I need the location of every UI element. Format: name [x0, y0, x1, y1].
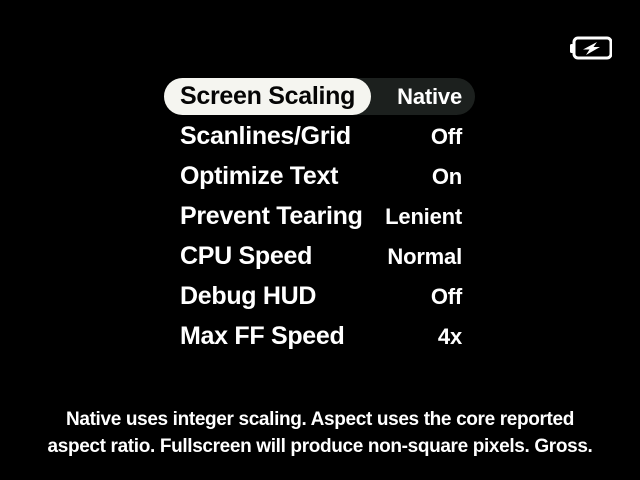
- battery-charging-icon: [570, 36, 612, 60]
- menu-item-value[interactable]: 4x: [300, 318, 462, 355]
- menu-item-value[interactable]: Off: [300, 118, 462, 155]
- menu-item-value[interactable]: Lenient: [300, 198, 462, 235]
- help-text: Native uses integer scaling. Aspect uses…: [0, 406, 640, 460]
- console-settings-screen: Screen Scaling Native Scanlines/Grid Off…: [0, 0, 640, 480]
- help-text-line-1: Native uses integer scaling. Aspect uses…: [0, 406, 640, 433]
- menu-row-debug-hud[interactable]: Debug HUD Off: [0, 278, 640, 318]
- menu-item-label: CPU Speed: [180, 238, 312, 275]
- menu-item-label: Debug HUD: [180, 278, 316, 315]
- menu-row-prevent-tearing[interactable]: Prevent Tearing Lenient: [0, 198, 640, 238]
- status-bar: [0, 0, 640, 72]
- menu-item-value[interactable]: Normal: [300, 238, 462, 275]
- menu-row-optimize-text[interactable]: Optimize Text On: [0, 158, 640, 198]
- help-text-line-2: aspect ratio. Fullscreen will produce no…: [0, 433, 640, 460]
- menu-row-max-ff-speed[interactable]: Max FF Speed 4x: [0, 318, 640, 358]
- menu-row-cpu-speed[interactable]: CPU Speed Normal: [0, 238, 640, 278]
- menu-item-value[interactable]: Native: [300, 78, 462, 115]
- menu-row-screen-scaling[interactable]: Screen Scaling Native: [0, 78, 640, 118]
- menu-item-value[interactable]: Off: [300, 278, 462, 315]
- menu-item-value[interactable]: On: [300, 158, 462, 195]
- menu-row-scanlines-grid[interactable]: Scanlines/Grid Off: [0, 118, 640, 158]
- settings-menu-list[interactable]: Screen Scaling Native Scanlines/Grid Off…: [0, 78, 640, 358]
